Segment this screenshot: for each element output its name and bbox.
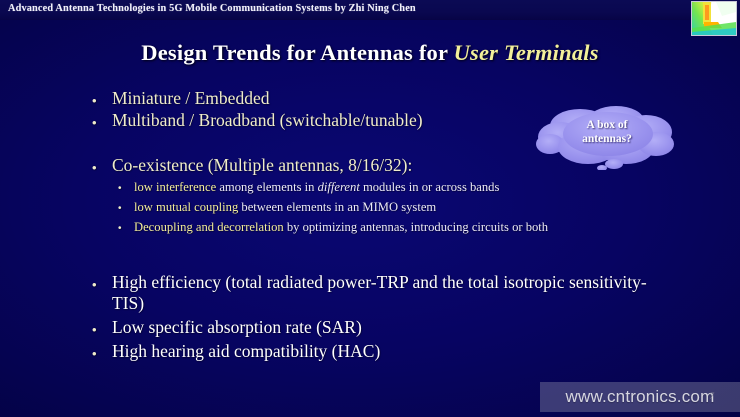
- watermark-mark: 7: [710, 391, 715, 401]
- callout-text: A box of antennas?: [528, 118, 686, 146]
- thought-cloud-callout: A box of antennas?: [528, 104, 686, 170]
- bullet-marker-icon: •: [118, 219, 134, 234]
- bullet-marker-icon: •: [92, 272, 112, 291]
- bullet-marker-icon: •: [92, 88, 112, 107]
- sub-bullet-tail: modules in or across bands: [360, 180, 500, 194]
- highlight-term: Decoupling and decorrelation: [134, 220, 284, 234]
- bullet-marker-icon: •: [92, 317, 112, 336]
- watermark-url: www.cntronics.com: [566, 387, 715, 407]
- sub-bullet-tail: by optimizing antennas, introducing circ…: [284, 220, 548, 234]
- presentation-slide: Advanced Antenna Technologies in 5G Mobi…: [0, 0, 740, 417]
- callout-line-1: A box of: [528, 118, 686, 132]
- bullet-high-efficiency: • High efficiency (total radiated power-…: [92, 272, 667, 314]
- highlight-term: low interference: [134, 180, 216, 194]
- bullet-marker-icon: •: [92, 110, 112, 129]
- callout-line-2: antennas?: [528, 132, 686, 146]
- bullet-text: High efficiency (total radiated power-TR…: [112, 272, 667, 314]
- slide-body: • Miniature / Embedded • Multiband / Bro…: [0, 0, 740, 417]
- sub-bullet-low-interference: • low interference among elements in dif…: [118, 179, 708, 195]
- bullet-marker-icon: •: [92, 155, 112, 174]
- bullet-text: Low specific absorption rate (SAR): [112, 317, 702, 338]
- watermark-bar: www.cntronics.com 7: [540, 382, 740, 412]
- sub-bullet-mid: among elements in: [216, 180, 317, 194]
- bullet-marker-icon: •: [92, 341, 112, 360]
- sub-bullet-decoupling-decorrelation: • Decoupling and decorrelation by optimi…: [118, 219, 708, 235]
- italic-term: different: [318, 180, 360, 194]
- bullet-marker-icon: •: [118, 179, 134, 194]
- bullet-hearing-aid-compatibility: • High hearing aid compatibility (HAC): [92, 341, 702, 362]
- sub-bullet-tail: between elements in an MIMO system: [238, 200, 436, 214]
- bullet-text: High hearing aid compatibility (HAC): [112, 341, 702, 362]
- bullet-low-sar: • Low specific absorption rate (SAR): [92, 317, 702, 338]
- sub-bullet-low-mutual-coupling: • low mutual coupling between elements i…: [118, 199, 708, 215]
- highlight-term: low mutual coupling: [134, 200, 238, 214]
- sub-bullet-text: Decoupling and decorrelation by optimizi…: [134, 219, 708, 235]
- sub-bullet-text: low mutual coupling between elements in …: [134, 199, 708, 215]
- sub-bullet-text: low interference among elements in diffe…: [134, 179, 708, 195]
- bullet-marker-icon: •: [118, 199, 134, 214]
